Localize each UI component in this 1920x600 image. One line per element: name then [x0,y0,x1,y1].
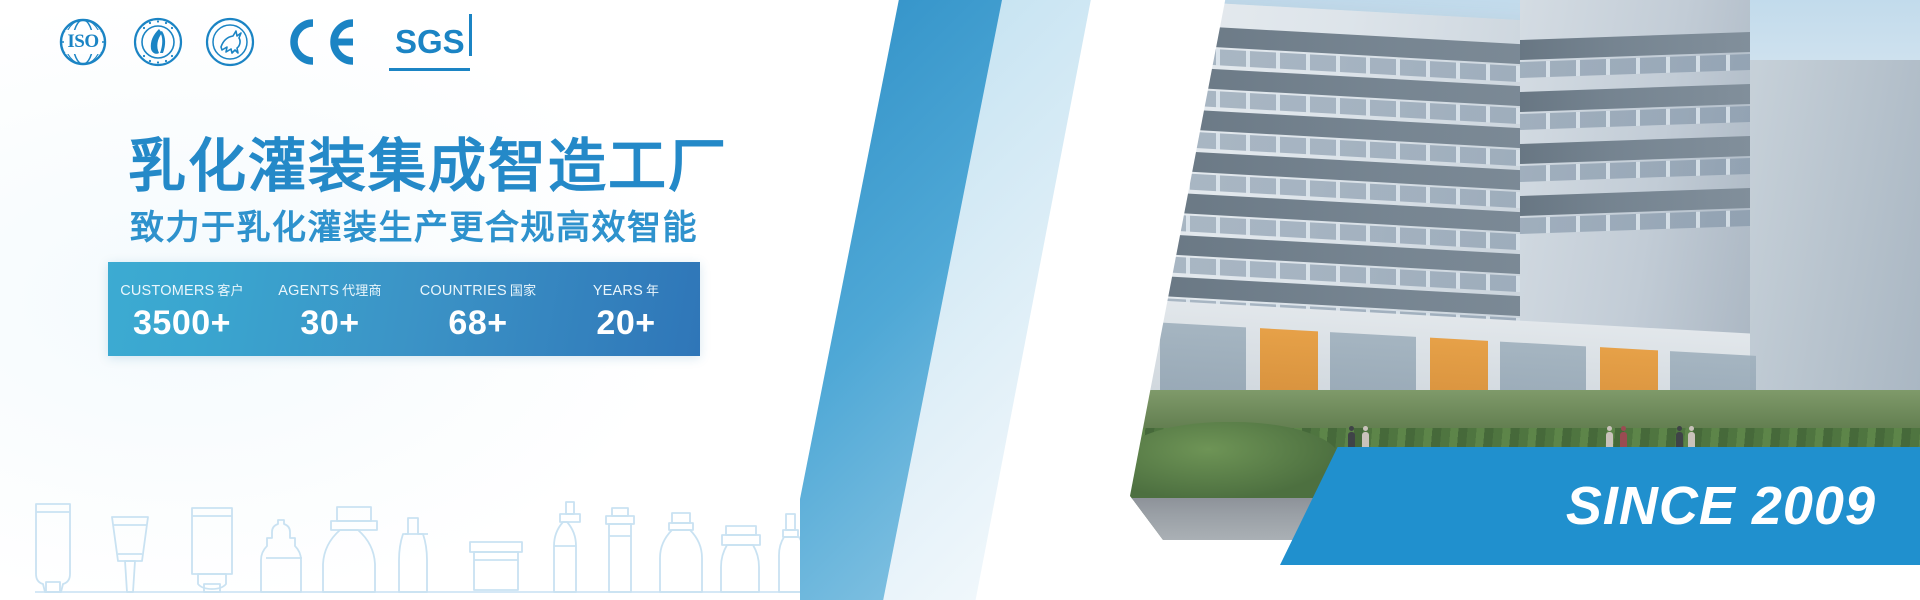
boston-round-bottle [660,513,702,592]
promotional-banner: ISO [0,0,1920,600]
lotion-pump-bottle [554,502,580,592]
stat-value-countries: 68+ [448,305,507,341]
stat-label-en: YEARS [593,283,643,299]
since-banner-footer [1280,565,1920,600]
stat-label-agents: AGENTS代理商 [278,280,381,299]
ce-mark-icon [283,17,361,67]
sgs-certification-logo: SGS [395,16,470,68]
iso-logo-text: ISO [65,30,100,54]
certification-logo-row: ISO [55,14,470,70]
round-jar [721,526,760,592]
stat-label-cn: 国家 [510,283,536,298]
since-banner-text: SINCE 2009 [1566,475,1876,537]
sgs-logo-text: SGS [395,25,465,59]
stat-label-customers: CUSTOMERS客户 [120,280,244,299]
wide-mouth-bottle [323,507,377,592]
quality-seal-icon [133,17,183,67]
stat-item-years: YEARS年 20+ [552,262,700,356]
stat-label-en: CUSTOMERS [120,283,214,299]
stat-label-en: AGENTS [278,283,339,299]
statistics-bar: CUSTOMERS客户 3500+ AGENTS代理商 30+ COUNTRIE… [108,262,700,356]
building-far-wing [1740,60,1920,390]
stat-label-cn: 客户 [217,283,243,298]
banner-headline: 乳化灌装集成智造工厂 [128,119,728,203]
sgs-underline [389,68,470,71]
stat-item-customers: CUSTOMERS客户 3500+ [108,262,256,356]
stat-label-countries: COUNTRIES国家 [420,280,537,299]
ce-certification-logo [283,16,361,68]
dropper-bottle [261,520,302,592]
sgs-vertical-bar [469,14,472,56]
gmp-deer-certification-logo [205,16,255,68]
cosmetic-jar [470,542,522,590]
stat-value-agents: 30+ [300,305,359,341]
banner-subheadline: 致力于乳化灌装生产更合规高效智能 [130,200,698,249]
squeeze-tube-tapered [112,517,148,592]
since-banner: SINCE 2009 [1280,447,1920,565]
iso-certification-logo: ISO [55,16,111,68]
squeeze-tube-flat-cap [192,508,232,592]
stat-item-agents: AGENTS代理商 30+ [256,262,404,356]
stat-label-years: YEARS年 [593,280,659,299]
stat-value-customers: 3500+ [133,305,231,341]
stat-item-countries: COUNTRIES国家 68+ [404,262,552,356]
stat-label-cn: 代理商 [342,283,382,298]
product-silhouette-row [0,480,880,600]
china-quality-certification-logo [133,16,183,68]
pump-dispenser-tall [606,508,634,592]
deer-emblem-icon [205,17,255,67]
squeeze-tube-large [36,504,70,592]
airless-pump-tube [399,518,428,592]
stat-value-years: 20+ [596,305,655,341]
stat-label-cn: 年 [646,283,659,298]
factory-photo-panel: SINCE 2009 [800,0,1920,600]
stat-label-en: COUNTRIES [420,283,507,299]
